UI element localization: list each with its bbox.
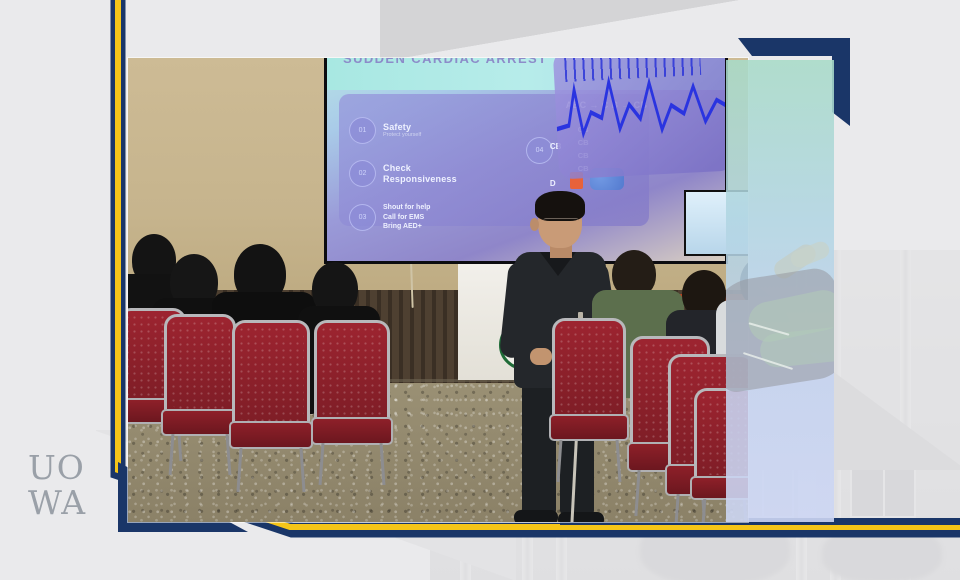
chair-seat: [311, 417, 393, 445]
chair-leg: [673, 494, 679, 522]
step-bullet: Bring AED+: [383, 222, 430, 231]
presenter-glasses: [543, 218, 579, 228]
step-subtitle: Protect yourself: [383, 132, 421, 138]
chair-back: [164, 314, 236, 415]
chair-back: [314, 320, 390, 424]
step-number-badge: 01: [349, 117, 376, 144]
building-shrub: [822, 522, 942, 580]
logo-line-2: WA: [28, 487, 108, 518]
logo-line-1: UO: [28, 452, 108, 483]
event-photo: SUDDEN CARDIAC ARREST 01 Safety Protect …: [128, 58, 748, 522]
step-number-badge: 03: [349, 204, 376, 231]
presenter-leg-left: [522, 382, 556, 516]
audience-chair: [164, 314, 236, 472]
uowa-logo: UO WA: [28, 452, 108, 532]
step-title: Safety: [383, 122, 421, 132]
slide-step-03: 03 Shout for help Call for EMS Bring AED…: [349, 203, 430, 231]
audience-chair: [232, 320, 310, 488]
translucent-illustration-panel: [726, 60, 834, 522]
slide-d-label: D: [550, 179, 556, 188]
chair-leg: [319, 443, 325, 485]
chair-leg: [700, 499, 706, 522]
slide-step-02: 02 Check Responsiveness: [349, 160, 469, 187]
presenter-shoe-left: [514, 510, 558, 522]
audience-chair: [314, 320, 390, 482]
chair-seat: [229, 421, 313, 450]
chair-leg: [237, 448, 243, 492]
grey-wedge-top-right: [380, 0, 740, 62]
chair-back: [232, 320, 310, 428]
chevron-right-bar: [832, 38, 850, 126]
chair-leg: [379, 443, 385, 485]
presenter-shoe-right: [558, 512, 604, 522]
step-title: Check Responsiveness: [383, 163, 469, 183]
slide-canvas: SUDDEN CARDIAC ARREST 01 Safety Protect …: [0, 0, 960, 580]
presenter-ear: [530, 218, 539, 231]
chair-leg: [168, 434, 174, 475]
chair-seat: [549, 414, 629, 441]
illustration-finger: [788, 239, 831, 270]
chair-leg: [556, 440, 562, 482]
presenter-hand-left: [530, 348, 552, 365]
step-number-badge: 02: [349, 160, 376, 187]
chair-seat: [161, 409, 239, 436]
step-bullet: Call for EMS: [383, 213, 430, 222]
slide-title: SUDDEN CARDIAC ARREST: [343, 58, 547, 66]
audience-chair: [552, 318, 626, 478]
slide-step-01: 01 Safety Protect yourself: [349, 117, 421, 144]
step-bullet: Shout for help: [383, 203, 430, 212]
ecg-waveform: [554, 60, 725, 158]
chair-leg: [635, 470, 641, 516]
presenter-hair: [535, 191, 585, 221]
ecg-monitor-graphic: [553, 58, 725, 179]
chair-leg: [616, 440, 622, 482]
chair-back: [552, 318, 626, 420]
chair-leg: [299, 448, 305, 492]
